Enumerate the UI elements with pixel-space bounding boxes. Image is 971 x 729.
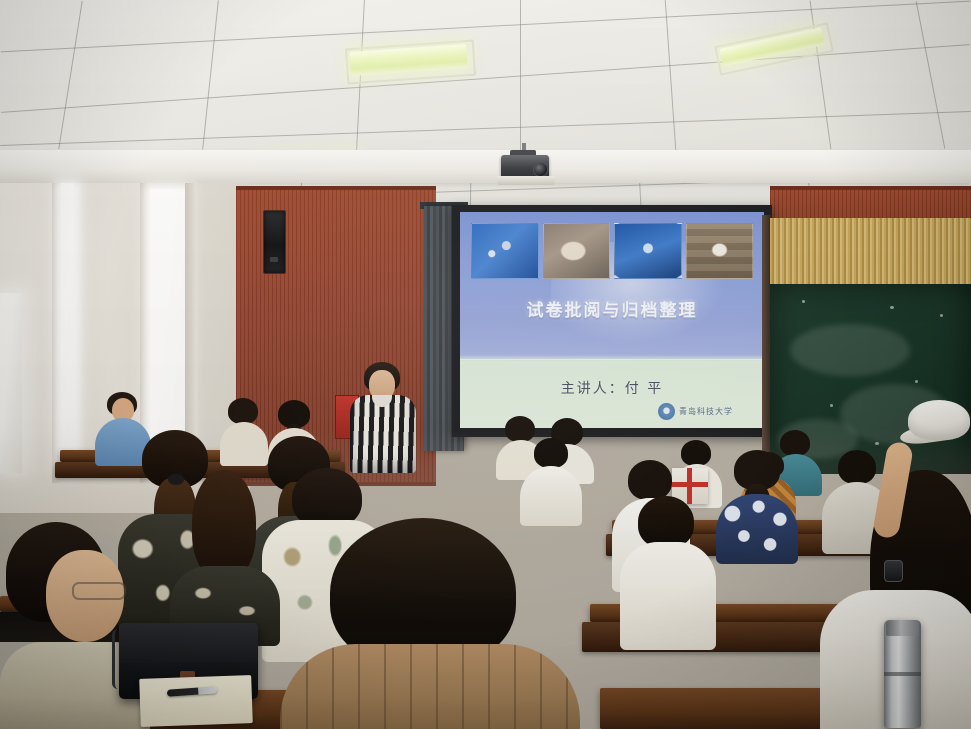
attendee-navy-dot (716, 450, 798, 560)
notebook (139, 675, 253, 727)
slide-photo-strip (471, 223, 753, 279)
presentation-slide: 试卷批阅与归档整理 主讲人：付 平 青岛科技大学 (460, 212, 764, 428)
slide-presenter-line: 主讲人：付 平 (460, 378, 764, 398)
speaker-indicator-icon (270, 257, 278, 262)
photo-thumb-4 (686, 223, 754, 279)
thermos (884, 620, 921, 728)
ceiling-projector (497, 143, 555, 187)
attendee-dark-floral-2 (170, 470, 280, 640)
cap-crown (908, 400, 970, 440)
university-logo-text: 青岛科技大学 (679, 406, 733, 417)
attendee-white-blouse-right (620, 496, 716, 646)
lecture-hall-photo: 试卷批阅与归档整理 主讲人：付 平 青岛科技大学 (0, 0, 971, 729)
thermos-seam (884, 672, 921, 676)
photo-thumb-3 (614, 223, 682, 279)
presenter (350, 362, 416, 472)
eyeglasses-icon (72, 582, 126, 600)
photo-thumb-2 (543, 223, 611, 279)
university-logo: 青岛科技大学 (658, 403, 733, 420)
attendee-tan-stripe (280, 518, 580, 729)
thermos-lid (886, 620, 919, 636)
ribbon-horizontal (672, 482, 708, 487)
wall-speaker (263, 210, 286, 274)
projector-ceiling-plate (497, 176, 555, 185)
attendee-white-shirt-mid (520, 438, 582, 524)
projector-lens-icon (533, 162, 548, 177)
photo-thumb-1 (471, 223, 539, 279)
university-seal-icon (658, 403, 675, 420)
slide-divider (460, 359, 764, 360)
white-cap (900, 400, 971, 452)
ceiling-beam (0, 150, 971, 183)
handbag-flap (119, 623, 258, 663)
slat-panel-above-board (770, 218, 971, 287)
smartwatch (884, 560, 903, 582)
slide-title: 试卷批阅与归档整理 (460, 296, 764, 321)
projection-screen: 试卷批阅与归档整理 主讲人：付 平 青岛科技大学 (452, 205, 772, 437)
